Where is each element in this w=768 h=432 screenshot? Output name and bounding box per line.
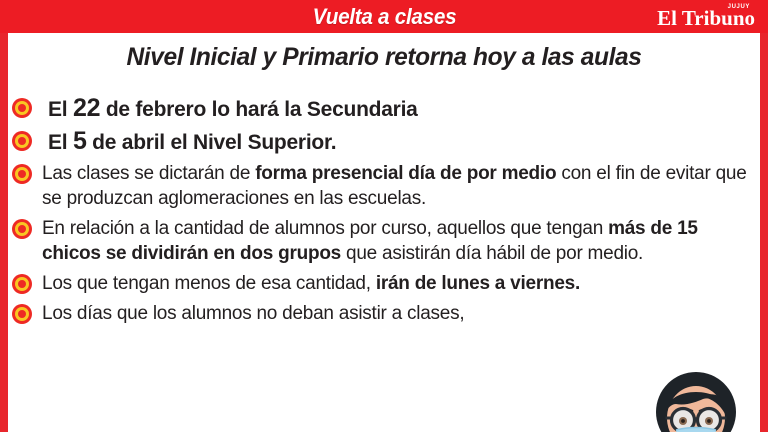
student-avatar-icon [648, 366, 744, 432]
list-item-text: Los días que los alumnos no deban asisti… [42, 301, 748, 326]
list-item-text: El 22 de febrero lo hará la Secundaria [42, 95, 748, 123]
text-segment: Los que tengan menos de esa cantidad, [42, 273, 376, 294]
bullet-target-icon [12, 219, 32, 239]
list-item: Los días que los alumnos no deban asisti… [8, 301, 760, 326]
infographic-card: Vuelta a clases JUJUY El Tribuno Nivel I… [0, 0, 768, 432]
list-item-text: Los que tengan menos de esa cantidad, ir… [42, 271, 748, 296]
page-title: Nivel Inicial y Primario retorna hoy a l… [16, 43, 753, 72]
text-segment: Los días que los alumnos no deban asisti… [42, 303, 464, 324]
text-segment: 5 [73, 127, 87, 155]
text-segment: de lunes a viernes. [415, 273, 580, 294]
bullet-target-icon [12, 98, 32, 118]
text-segment: forma presencial día de por medio [255, 163, 556, 184]
bullet-target-icon [12, 131, 32, 151]
bullet-target-icon [12, 304, 32, 324]
text-segment: En relación a la cantidad de alumnos por… [42, 218, 608, 239]
header-title: Vuelta a clases [312, 4, 456, 30]
text-segment: 22 [73, 94, 100, 122]
list-item: Las clases se dictarán de forma presenci… [8, 161, 760, 211]
list-item-text: Las clases se dictarán de forma presenci… [42, 161, 748, 211]
text-segment: El [48, 131, 73, 154]
text-segment: El [48, 98, 73, 121]
text-segment: irán [376, 273, 410, 294]
student-with-mask-illustration [648, 366, 744, 432]
list-item-text: El 5 de abril el Nivel Superior. [42, 128, 748, 156]
masthead-name: El Tribuno [657, 8, 755, 29]
list-item-text: En relación a la cantidad de alumnos por… [42, 216, 748, 266]
text-segment: que asistirán día hábil de por medio. [341, 243, 643, 264]
list-item: El 22 de febrero lo hará la Secundaria [8, 95, 760, 123]
list-item: En relación a la cantidad de alumnos por… [8, 216, 760, 266]
list-item: El 5 de abril el Nivel Superior. [8, 128, 760, 156]
list-item: Los que tengan menos de esa cantidad, ir… [8, 271, 760, 296]
text-segment: de abril el Nivel Superior. [87, 131, 337, 154]
text-segment: Las clases se dictarán de [42, 163, 255, 184]
content-card: Nivel Inicial y Primario retorna hoy a l… [8, 33, 760, 432]
masthead-logo: JUJUY El Tribuno [657, 3, 755, 30]
bullet-target-icon [12, 274, 32, 294]
header-bar: Vuelta a clases [0, 0, 768, 33]
bullet-list: El 22 de febrero lo hará la SecundariaEl… [8, 95, 760, 331]
text-segment: de febrero lo hará la Secundaria [100, 98, 417, 121]
bullet-target-icon [12, 164, 32, 184]
